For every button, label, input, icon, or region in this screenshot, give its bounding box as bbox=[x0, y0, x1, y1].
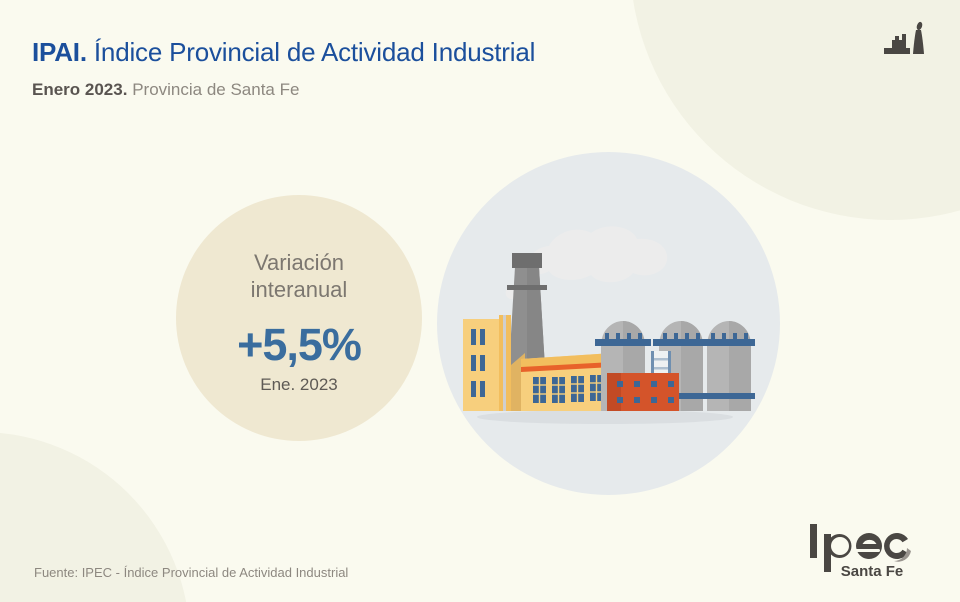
logo-subtitle-text: Santa Fe bbox=[841, 563, 904, 580]
source-note: Fuente: IPEC - Índice Provincial de Acti… bbox=[34, 565, 348, 580]
main-building bbox=[521, 353, 613, 411]
ipec-logo: Santa Fe bbox=[804, 518, 932, 580]
infographic-canvas: IPAI. Índice Provincial de Actividad Ind… bbox=[0, 0, 960, 602]
stat-label: Variación interanual bbox=[176, 250, 422, 304]
page-title-acronym: IPAI. bbox=[32, 37, 87, 67]
page-title: IPAI. Índice Provincial de Actividad Ind… bbox=[32, 38, 832, 68]
page-subtitle-period: Enero 2023. bbox=[32, 80, 127, 99]
factory-icon bbox=[880, 18, 932, 62]
stat-period: Ene. 2023 bbox=[176, 376, 422, 393]
page-subtitle-region: Provincia de Santa Fe bbox=[132, 80, 299, 99]
page-subtitle: Enero 2023. Provincia de Santa Fe bbox=[32, 80, 832, 100]
page-title-text: Índice Provincial de Actividad Industria… bbox=[94, 37, 535, 67]
factory-illustration bbox=[455, 215, 755, 445]
brick-building bbox=[607, 373, 679, 411]
header: IPAI. Índice Provincial de Actividad Ind… bbox=[32, 38, 832, 100]
stat-value: +5,5% bbox=[176, 322, 422, 367]
ground-shadow bbox=[477, 410, 733, 424]
stat-label-line1: Variación bbox=[176, 250, 422, 277]
stat-block: Variación interanual +5,5% Ene. 2023 bbox=[176, 250, 422, 393]
silo-3 bbox=[701, 321, 755, 411]
left-tower bbox=[463, 315, 511, 411]
stat-label-line2: interanual bbox=[176, 277, 422, 304]
